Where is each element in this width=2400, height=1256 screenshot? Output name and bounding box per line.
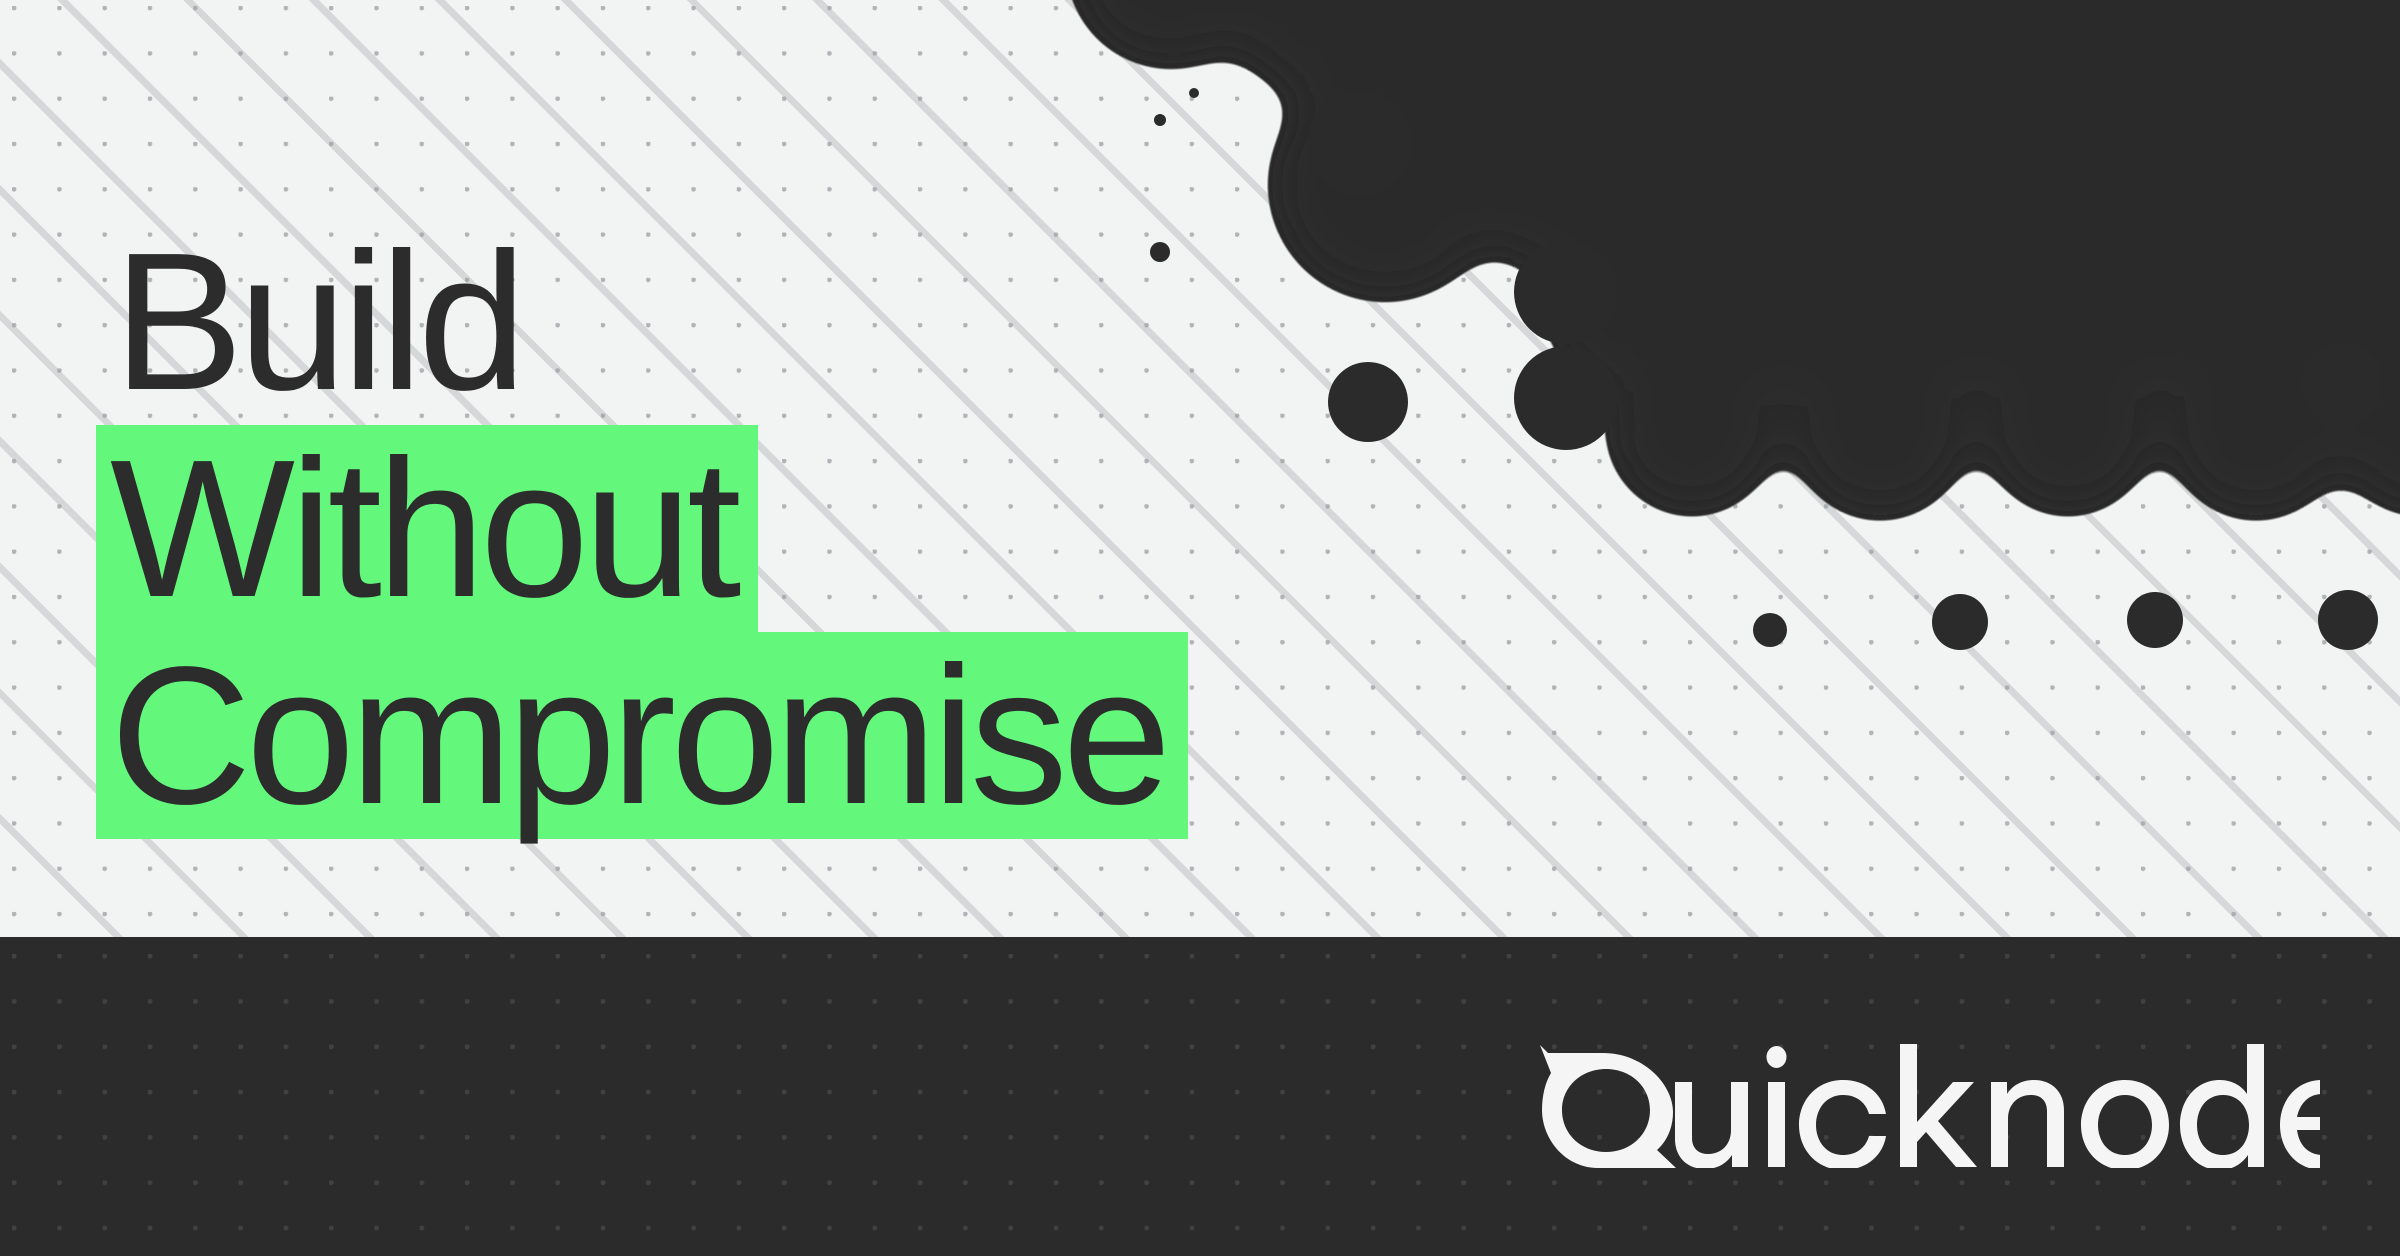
headline-line-2: Without [96, 425, 1346, 632]
quicknode-wordmark-icon [1540, 1044, 2320, 1168]
headline: Build Without Compromise [96, 218, 1346, 839]
headline-line-1: Build [96, 218, 1346, 425]
quicknode-logo [1540, 1042, 2320, 1168]
footer-bar [0, 937, 2400, 1256]
headline-line-3: Compromise [96, 632, 1346, 839]
promo-banner: Build Without Compromise [0, 0, 2400, 1256]
